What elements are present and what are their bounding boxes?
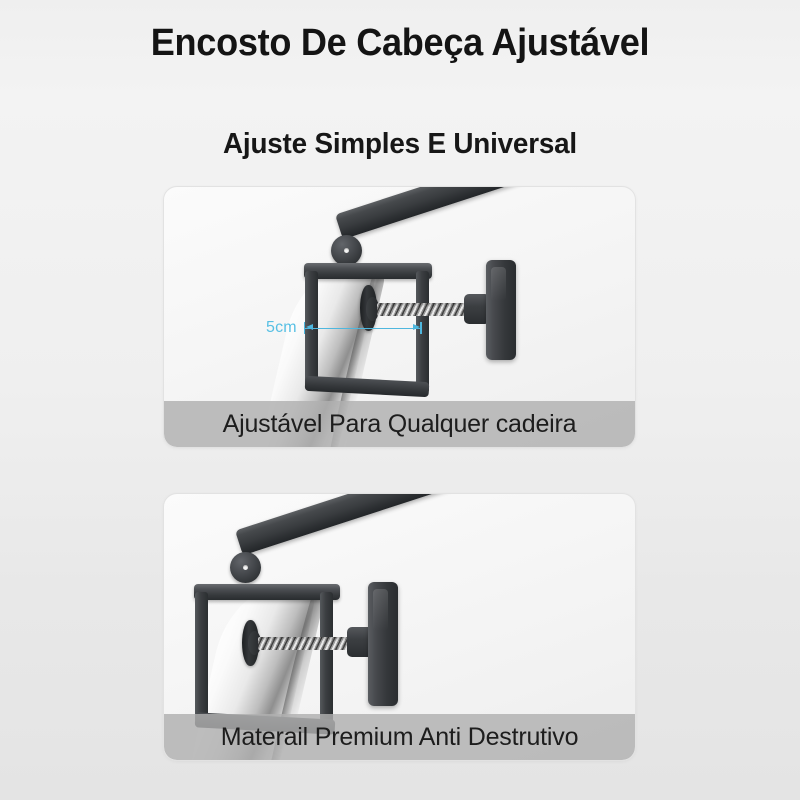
page-subtitle: Ajuste Simples E Universal [16, 128, 784, 161]
threaded-screw-icon [258, 637, 352, 650]
panel-2-caption-bar: Materail Premium Anti Destrutivo [164, 714, 635, 760]
panel-2-caption-text: Materail Premium Anti Destrutivo [221, 723, 579, 752]
wing-knob-icon [486, 260, 516, 360]
dimension-arrow-left-icon [306, 324, 313, 330]
product-image-panel-2: Materail Premium Anti Destrutivo [163, 493, 636, 761]
threaded-screw-icon [377, 303, 469, 316]
product-image-panel-1: 5cm Ajustável Para Qualquer cadeira [163, 186, 636, 448]
wing-knob-icon [368, 582, 398, 706]
panel-1-caption-text: Ajustável Para Qualquer cadeira [223, 410, 577, 439]
dimension-line [304, 322, 422, 334]
dimension-label: 5cm [266, 319, 297, 337]
arm-pivot-rivet-icon [331, 235, 362, 266]
clamp-bracket-top-icon [304, 263, 432, 279]
dimension-cap-right-icon [420, 322, 422, 334]
support-arm-icon [235, 494, 557, 555]
clamp-bracket-right-arm-icon [320, 592, 333, 732]
panel-1-caption-bar: Ajustável Para Qualquer cadeira [164, 401, 635, 447]
dimension-annotation: 5cm [266, 319, 422, 337]
support-arm-icon [335, 187, 628, 239]
dimension-arrow-right-icon [413, 324, 420, 330]
arm-pivot-rivet-icon [230, 552, 261, 583]
clamp-bracket-left-arm-icon [195, 592, 208, 722]
clamp-bracket-top-icon [194, 584, 340, 600]
page-title: Encosto De Cabeça Ajustável [20, 22, 780, 65]
